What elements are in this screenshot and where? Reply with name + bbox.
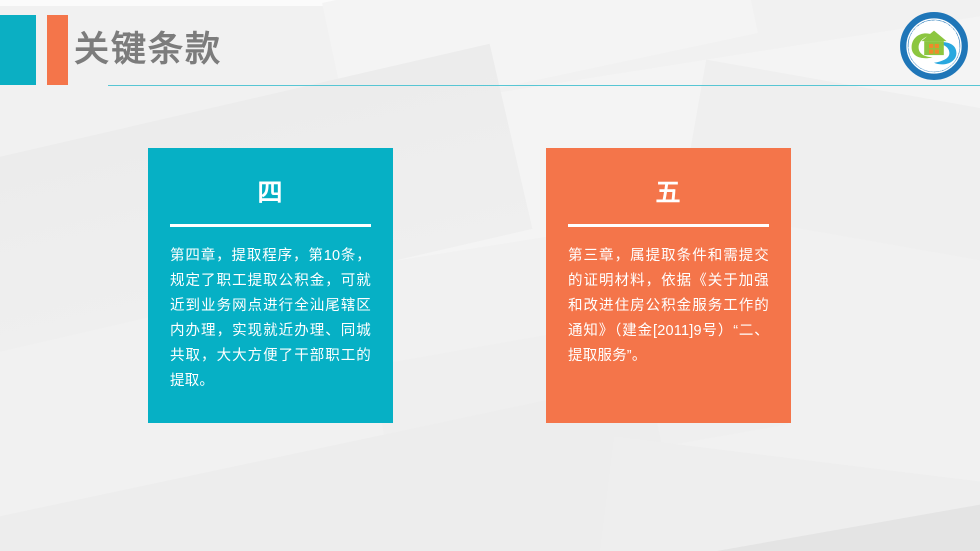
header-accent-bar-orange bbox=[47, 15, 68, 85]
header-accent-bar-teal bbox=[0, 15, 36, 85]
key-clause-card-5[interactable]: 五 第三章，属提取条件和需提交的证明材料，依据《关于加强和改进住房公积金服务工作… bbox=[546, 148, 791, 423]
header-divider bbox=[108, 85, 980, 86]
card-body-text: 第四章，提取程序，第10条，规定了职工提取公积金，可就近到业务网点进行全汕尾辖区… bbox=[170, 227, 371, 394]
card-number: 五 bbox=[568, 148, 769, 210]
slide-canvas: 关键条款 汕尾市住房公积金管理中心 Shanwei Housing Provid… bbox=[0, 0, 980, 551]
background-decoration bbox=[0, 0, 980, 551]
card-body-text: 第三章，属提取条件和需提交的证明材料，依据《关于加强和改进住房公积金服务工作的通… bbox=[568, 227, 769, 369]
background-diagonal-band-lower-right bbox=[590, 437, 980, 551]
page-title: 关键条款 bbox=[74, 26, 222, 74]
background-diagonal-band-bottom bbox=[638, 492, 980, 551]
background-diagonal-band-top bbox=[0, 0, 628, 6]
provident-fund-logo-icon: 汕尾市住房公积金管理中心 Shanwei Housing Provident F… bbox=[899, 11, 969, 81]
key-clause-card-4[interactable]: 四 第四章，提取程序，第10条，规定了职工提取公积金，可就近到业务网点进行全汕尾… bbox=[148, 148, 393, 423]
background-diagonal-band-upper bbox=[322, 0, 758, 120]
card-number: 四 bbox=[170, 148, 371, 210]
